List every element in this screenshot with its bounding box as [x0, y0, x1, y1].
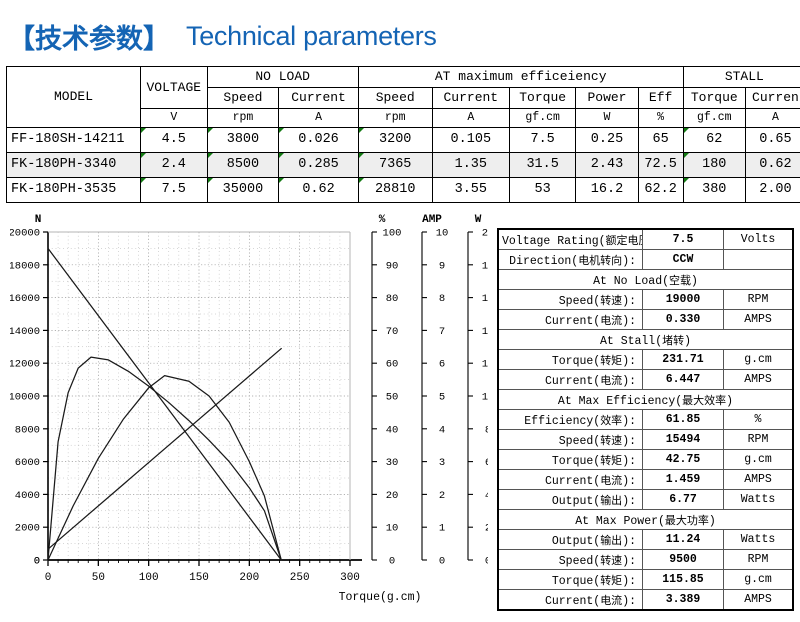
chart-tick-label-watt: 20 — [482, 228, 488, 240]
motor-data-row: Speed(转速):15494RPM — [498, 430, 793, 450]
chart-tick-label-watt: 2 — [485, 523, 488, 535]
chart-tick-label-watt: 4 — [485, 490, 488, 502]
chart-tick-label-amp: 8 — [439, 293, 445, 305]
motor-data-row: Direction(电机转向):CCW — [498, 250, 793, 270]
motor-data-row: Torque(转矩):115.85g.cm — [498, 570, 793, 590]
cell-eff-torque: 53 — [509, 178, 575, 203]
subheader-stall-torque: Torque — [683, 88, 745, 109]
chart-tick-label-n: 6000 — [15, 457, 40, 469]
cell-eff-power: 2.43 — [576, 153, 638, 178]
motor-data-row: Current(电流):3.389AMPS — [498, 590, 793, 611]
cell-voltage: 2.4 — [141, 153, 207, 178]
unit-stall-current: A — [745, 109, 800, 128]
motor-param-unit: Volts — [724, 229, 794, 250]
motor-param-label: Voltage Rating(额定电压): — [498, 229, 643, 250]
chart-tick-label-percent: 30 — [386, 457, 399, 469]
chart-tick-label-watt: 16 — [482, 293, 488, 305]
chart-tick-label-n: 18000 — [10, 260, 40, 272]
motor-param-unit: AMPS — [724, 590, 794, 611]
cell-model: FF-180SH-14211 — [7, 128, 141, 153]
motor-param-label: Current(电流): — [498, 310, 643, 330]
motor-data-row: Speed(转速):9500RPM — [498, 550, 793, 570]
motor-param-label: Current(电流): — [498, 590, 643, 611]
motor-param-label: Torque(转矩): — [498, 570, 643, 590]
unit-eff-power: W — [576, 109, 638, 128]
cell-stall-current: 2.00 — [745, 178, 800, 203]
chart-tick-label-x: 150 — [189, 572, 209, 584]
cell-no-load-speed: 35000 — [207, 178, 279, 203]
cell-model: FK-180PH-3535 — [7, 178, 141, 203]
chart-tick-label-x: 100 — [139, 572, 159, 584]
chart-tick-label-watt: 8 — [485, 424, 488, 436]
motor-section-row: At Max Efficiency(最大效率) — [498, 390, 793, 410]
unit-eff-eff: % — [638, 109, 683, 128]
chart-tick-label-percent: 90 — [386, 260, 399, 272]
motor-param-unit: AMPS — [724, 370, 794, 390]
cell-no-load-current: 0.62 — [279, 178, 358, 203]
motor-data-row: Current(电流):6.447AMPS — [498, 370, 793, 390]
cell-no-load-current: 0.285 — [279, 153, 358, 178]
motor-param-value: 7.5 — [643, 229, 724, 250]
motor-section-row: At Max Power(最大功率) — [498, 510, 793, 530]
unit-no-load-current: A — [279, 109, 358, 128]
motor-param-unit: RPM — [724, 550, 794, 570]
chart-tick-label-watt: 0 — [485, 556, 488, 568]
cell-eff-speed: 3200 — [358, 128, 432, 153]
chart-tick-label-watt: 10 — [482, 392, 488, 404]
unit-eff-current: A — [432, 109, 509, 128]
chart-tick-label-n: 20000 — [10, 228, 40, 240]
motor-param-label: Output(输出): — [498, 530, 643, 550]
chart-tick-label-amp: 1 — [439, 523, 445, 535]
chart-origin-label-left: 0 — [34, 556, 40, 568]
motor-data-row: Efficiency(效率):61.85% — [498, 410, 793, 430]
motor-param-value: 11.24 — [643, 530, 724, 550]
unit-voltage: V — [141, 109, 207, 128]
motor-param-unit: Watts — [724, 530, 794, 550]
motor-data-row: Current(电流):0.330AMPS — [498, 310, 793, 330]
chart-tick-label-percent: 70 — [386, 326, 399, 338]
chart-tick-label-x: 50 — [92, 572, 105, 584]
motor-param-label: Speed(转速): — [498, 290, 643, 310]
motor-param-value: 3.389 — [643, 590, 724, 611]
chart-tick-label-watt: 14 — [482, 326, 488, 338]
motor-param-value: 6.447 — [643, 370, 724, 390]
chart-series-current — [48, 349, 281, 550]
cell-stall-torque: 380 — [683, 178, 745, 203]
motor-measurement-table: Voltage Rating(额定电压):7.5VoltsDirection(电… — [497, 228, 794, 611]
cell-eff-torque: 7.5 — [509, 128, 575, 153]
motor-param-unit — [724, 250, 794, 270]
chart-tick-label-percent: 10 — [386, 523, 399, 535]
motor-param-value: 231.71 — [643, 350, 724, 370]
motor-param-label: Torque(转矩): — [498, 450, 643, 470]
subheader-stall-current: Curren — [745, 88, 800, 109]
motor-param-unit: AMPS — [724, 310, 794, 330]
subheader-eff-current: Current — [432, 88, 509, 109]
cell-eff-current: 1.35 — [432, 153, 509, 178]
header-no-load: NO LOAD — [207, 67, 358, 88]
motor-spec-table: MODEL VOLTAGE NO LOAD AT maximum efficei… — [6, 66, 800, 203]
chart-tick-label-percent: 60 — [386, 359, 399, 371]
page-title-chinese: 【技术参数】 — [8, 17, 170, 56]
cell-no-load-speed: 3800 — [207, 128, 279, 153]
chart-tick-label-amp: 5 — [439, 392, 445, 404]
motor-section-label: At Max Efficiency(最大效率) — [498, 390, 793, 410]
motor-param-unit: g.cm — [724, 570, 794, 590]
motor-param-label: Direction(电机转向): — [498, 250, 643, 270]
chart-tick-label-percent: 80 — [386, 293, 399, 305]
chart-series-efficiency — [48, 357, 281, 560]
chart-tick-label-amp: 10 — [436, 228, 449, 240]
cell-stall-current: 0.62 — [745, 153, 800, 178]
subheader-eff-torque: Torque — [509, 88, 575, 109]
header-stall: STALL — [683, 67, 800, 88]
motor-param-label: Speed(转速): — [498, 550, 643, 570]
motor-data-row: Current(电流):1.459AMPS — [498, 470, 793, 490]
chart-tick-label-n: 8000 — [15, 424, 40, 436]
motor-param-label: Efficiency(效率): — [498, 410, 643, 430]
motor-param-unit: % — [724, 410, 794, 430]
header-model: MODEL — [7, 67, 141, 128]
cell-eff-power: 16.2 — [576, 178, 638, 203]
header-voltage: VOLTAGE — [141, 67, 207, 109]
cell-eff-power: 0.25 — [576, 128, 638, 153]
motor-param-value: 42.75 — [643, 450, 724, 470]
motor-param-label: Current(电流): — [498, 470, 643, 490]
chart-tick-label-percent: 40 — [386, 424, 399, 436]
motor-param-unit: AMPS — [724, 470, 794, 490]
motor-param-label: Output(输出): — [498, 490, 643, 510]
motor-param-label: Speed(转速): — [498, 430, 643, 450]
motor-section-row: At Stall(堵转) — [498, 330, 793, 350]
table-row: FK-180PH-3340 2.4 8500 0.285 7365 1.35 3… — [7, 153, 800, 178]
chart-tick-label-percent: 100 — [383, 228, 402, 240]
unit-no-load-speed: rpm — [207, 109, 279, 128]
cell-eff-speed: 28810 — [358, 178, 432, 203]
motor-data-row: Output(输出):11.24Watts — [498, 530, 793, 550]
cell-eff-eff: 65 — [638, 128, 683, 153]
chart-tick-label-x: 0 — [45, 572, 52, 584]
cell-eff-torque: 31.5 — [509, 153, 575, 178]
motor-section-label: At Stall(堵转) — [498, 330, 793, 350]
motor-data-row: Torque(转矩):42.75g.cm — [498, 450, 793, 470]
motor-param-value: 1.459 — [643, 470, 724, 490]
motor-data-row: Voltage Rating(额定电压):7.5Volts — [498, 229, 793, 250]
motor-param-unit: RPM — [724, 290, 794, 310]
chart-tick-label-amp: 3 — [439, 457, 445, 469]
subheader-eff-eff: Eff — [638, 88, 683, 109]
motor-param-value: 19000 — [643, 290, 724, 310]
chart-tick-label-amp: 0 — [439, 556, 445, 568]
motor-param-unit: RPM — [724, 430, 794, 450]
unit-eff-torque: gf.cm — [509, 109, 575, 128]
chart-tick-label-percent: 0 — [389, 556, 395, 568]
chart-tick-label-amp: 9 — [439, 260, 445, 272]
chart-tick-label-n: 12000 — [10, 359, 40, 371]
motor-param-value: 115.85 — [643, 570, 724, 590]
chart-tick-label-n: 4000 — [15, 490, 40, 502]
motor-data-row: Speed(转速):19000RPM — [498, 290, 793, 310]
cell-eff-current: 0.105 — [432, 128, 509, 153]
cell-stall-current: 0.65 — [745, 128, 800, 153]
cell-eff-eff: 62.2 — [638, 178, 683, 203]
motor-param-unit: g.cm — [724, 450, 794, 470]
motor-data-row: Output(输出):6.77Watts — [498, 490, 793, 510]
cell-voltage: 4.5 — [141, 128, 207, 153]
chart-tick-label-amp: 6 — [439, 359, 445, 371]
chart-axis-title-amp: AMP — [422, 214, 442, 226]
chart-tick-label-amp: 7 — [439, 326, 445, 338]
cell-voltage: 7.5 — [141, 178, 207, 203]
cell-no-load-speed: 8500 — [207, 153, 279, 178]
cell-eff-eff: 72.5 — [638, 153, 683, 178]
chart-tick-label-n: 10000 — [10, 392, 40, 404]
motor-param-value: CCW — [643, 250, 724, 270]
motor-param-label: Current(电流): — [498, 370, 643, 390]
table-row: FF-180SH-14211 4.5 3800 0.026 3200 0.105… — [7, 128, 800, 153]
header-max-efficiency: AT maximum efficeiency — [358, 67, 683, 88]
table-group-header-row: MODEL VOLTAGE NO LOAD AT maximum efficei… — [7, 67, 800, 88]
chart-tick-label-watt: 12 — [482, 359, 488, 371]
motor-param-value: 9500 — [643, 550, 724, 570]
motor-section-label: At No Load(空载) — [498, 270, 793, 290]
subheader-eff-power: Power — [576, 88, 638, 109]
cell-model: FK-180PH-3340 — [7, 153, 141, 178]
cell-eff-speed: 7365 — [358, 153, 432, 178]
chart-axis-title-n: N — [35, 214, 42, 226]
cell-stall-torque: 180 — [683, 153, 745, 178]
motor-param-label: Torque(转矩): — [498, 350, 643, 370]
motor-param-unit: g.cm — [724, 350, 794, 370]
cell-no-load-current: 0.026 — [279, 128, 358, 153]
motor-param-value: 61.85 — [643, 410, 724, 430]
chart-canvas: N020004000600080001000012000140001600018… — [10, 205, 488, 615]
chart-tick-label-amp: 2 — [439, 490, 445, 502]
chart-tick-label-n: 2000 — [15, 523, 40, 535]
cell-eff-current: 3.55 — [432, 178, 509, 203]
chart-tick-label-percent: 20 — [386, 490, 399, 502]
chart-tick-label-amp: 4 — [439, 424, 445, 436]
chart-tick-label-watt: 6 — [485, 457, 488, 469]
chart-axis-title-watt: W — [475, 214, 482, 226]
motor-param-value: 6.77 — [643, 490, 724, 510]
unit-stall-torque: gf.cm — [683, 109, 745, 128]
chart-tick-label-watt: 18 — [482, 260, 488, 272]
chart-x-axis-title: Torque(g.cm) — [339, 591, 422, 604]
chart-tick-label-x: 200 — [239, 572, 259, 584]
chart-tick-label-x: 250 — [290, 572, 310, 584]
chart-tick-label-n: 16000 — [10, 293, 40, 305]
chart-series-speed — [48, 248, 281, 560]
motor-param-unit: Watts — [724, 490, 794, 510]
subheader-no-load-current: Current — [279, 88, 358, 109]
chart-axis-title-percent: % — [379, 214, 386, 226]
page-title-english: Technical parameters — [186, 21, 437, 52]
motor-section-label: At Max Power(最大功率) — [498, 510, 793, 530]
chart-tick-label-percent: 50 — [386, 392, 399, 404]
motor-section-row: At No Load(空载) — [498, 270, 793, 290]
cell-stall-torque: 62 — [683, 128, 745, 153]
motor-data-row: Torque(转矩):231.71g.cm — [498, 350, 793, 370]
chart-tick-label-x: 300 — [340, 572, 360, 584]
subheader-no-load-speed: Speed — [207, 88, 279, 109]
unit-eff-speed: rpm — [358, 109, 432, 128]
chart-series-group — [48, 248, 281, 560]
motor-param-value: 0.330 — [643, 310, 724, 330]
subheader-eff-speed: Speed — [358, 88, 432, 109]
motor-param-value: 15494 — [643, 430, 724, 450]
table-row: FK-180PH-3535 7.5 35000 0.62 28810 3.55 … — [7, 178, 800, 203]
page-title: 【技术参数】 Technical parameters — [8, 14, 437, 58]
chart-tick-label-n: 14000 — [10, 326, 40, 338]
motor-performance-chart: N020004000600080001000012000140001600018… — [10, 205, 488, 615]
